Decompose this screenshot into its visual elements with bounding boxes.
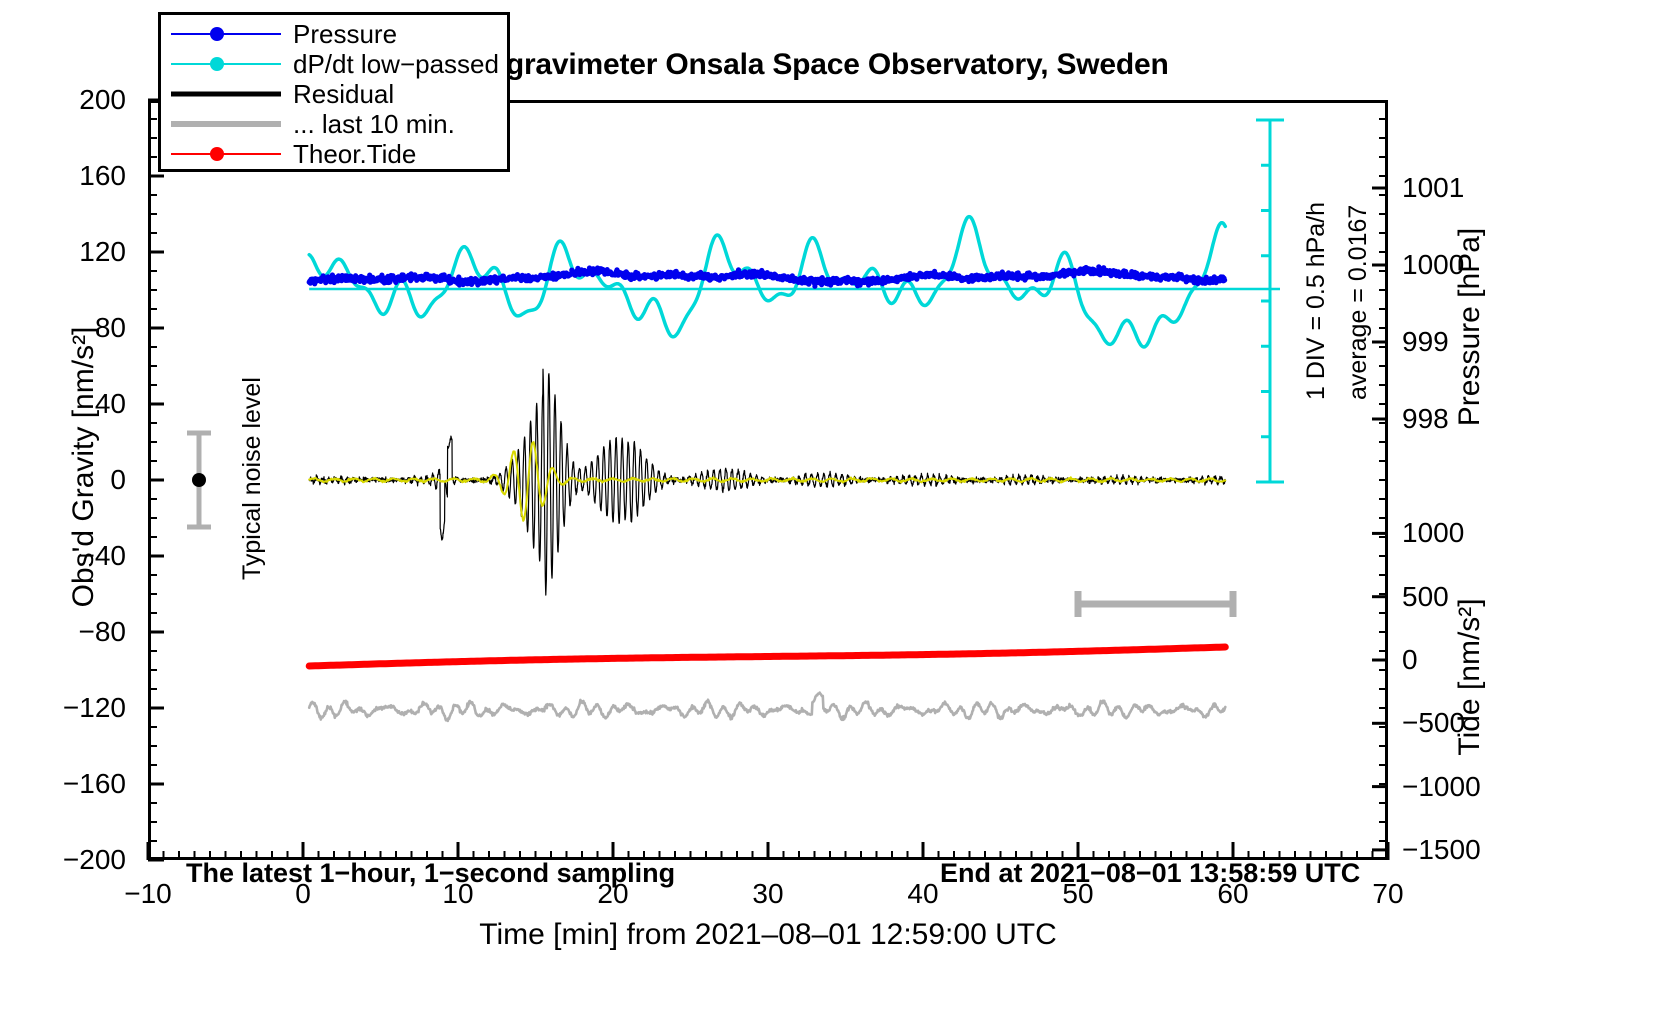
x-tick-label: 50: [1062, 878, 1093, 910]
dpdt-division-annotation: 1 DIV = 0.5 hPa/h: [1302, 202, 1331, 400]
legend-label: Residual: [293, 79, 394, 110]
legend-item-1[interactable]: dP/dt low−passed: [171, 49, 507, 79]
noise-center-dot: [192, 473, 206, 487]
y-tick-label-right-tide: 0: [1402, 644, 1418, 676]
legend-item-3[interactable]: ... last 10 min.: [171, 109, 507, 139]
legend-swatch-icon: [171, 144, 281, 164]
x-axis-label: Time [min] from 2021–08–01 12:59:00 UTC: [148, 918, 1388, 952]
x-tick-label: 30: [752, 878, 783, 910]
legend-swatch-icon: [171, 84, 281, 104]
last10min-curve: [309, 693, 1225, 721]
y-tick-label-left: 160: [0, 160, 126, 192]
noise-level-annotation: Typical noise level: [238, 377, 267, 580]
legend-label: dP/dt low−passed: [293, 49, 499, 80]
y-tick-label-right-pressure: 1001: [1402, 172, 1464, 204]
legend-swatch-icon: [171, 24, 281, 44]
y-tick-label-right-pressure: 999: [1402, 326, 1449, 358]
x-tick-label: 40: [907, 878, 938, 910]
y-tick-label-left: 120: [0, 236, 126, 268]
legend-label: Pressure: [293, 19, 397, 50]
y-tick-label-left: −160: [0, 768, 126, 800]
legend-label: ... last 10 min.: [293, 109, 455, 140]
y-tick-label-left: −120: [0, 692, 126, 724]
x-tick-label: 0: [295, 878, 311, 910]
y-tick-label-right-tide: 500: [1402, 581, 1449, 613]
y-tick-label-right-pressure: 1000: [1402, 249, 1464, 281]
y-tick-label-right-tide: −1000: [1402, 771, 1481, 803]
y-tick-label-left: −40: [0, 540, 126, 572]
y-tick-label-right-tide: −1500: [1402, 834, 1481, 866]
y-tick-label-left: 80: [0, 312, 126, 344]
x-tick-label: 60: [1217, 878, 1248, 910]
legend-swatch-icon: [171, 54, 281, 74]
y-tick-label-right-tide: 1000: [1402, 517, 1464, 549]
pressure-scatter: [307, 264, 1228, 289]
y-tick-label-right-pressure: 998: [1402, 403, 1449, 435]
x-tick-label: −10: [124, 878, 172, 910]
x-tick-label: 10: [442, 878, 473, 910]
y-tick-label-left: −200: [0, 844, 126, 876]
tide-curve: [309, 647, 1225, 666]
legend-item-2[interactable]: Residual: [171, 79, 507, 109]
x-tick-label: 70: [1372, 878, 1403, 910]
y-tick-label-left: −80: [0, 616, 126, 648]
footer-note-right: End at 2021−08−01 13:58:59 UTC: [940, 858, 1360, 889]
y-tick-label-left: 0: [0, 464, 126, 496]
dpdt-average-annotation: average = 0.0167: [1344, 205, 1373, 400]
legend-item-0[interactable]: Pressure: [171, 19, 507, 49]
legend: PressuredP/dt low−passedResidual... last…: [158, 12, 510, 172]
y-tick-label-right-tide: −500: [1402, 707, 1465, 739]
legend-item-4[interactable]: Theor.Tide: [171, 139, 507, 169]
y-tick-label-left: 200: [0, 84, 126, 116]
legend-swatch-icon: [171, 114, 281, 134]
x-tick-label: 20: [597, 878, 628, 910]
y-tick-label-left: 40: [0, 388, 126, 420]
legend-label: Theor.Tide: [293, 139, 416, 170]
